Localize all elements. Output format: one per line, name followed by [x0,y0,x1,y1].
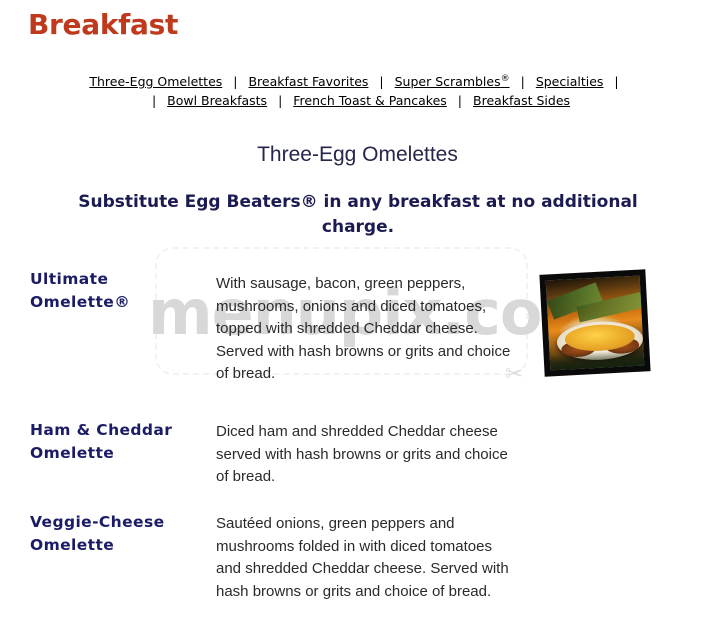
section-note: Substitute Egg Beaters® in any breakfast… [58,190,658,240]
menu-item-description: Sautéed onions, green peppers and mushro… [216,513,516,603]
menu-item-name: Ham & Cheddar Omelette [30,419,210,465]
menu-item: Veggie-Cheese Omelette Sautéed onions, g… [0,511,715,631]
nav-link-specialties[interactable]: Specialties [536,74,604,89]
nav-link-label: Breakfast Favorites [248,74,368,89]
nav-link-label: Specialties [536,74,604,89]
nav-row-1: Three-Egg Omelettes | Breakfast Favorite… [0,70,715,91]
ultimate-omelette-photo [539,269,650,376]
nav-link-breakfast-sides[interactable]: Breakfast Sides [473,93,570,108]
nav-row-2: | Bowl Breakfasts | French Toast & Panca… [0,91,715,110]
nav-link-label: Three-Egg Omelettes [89,74,222,89]
menu-item-name: Ultimate Omelette® [30,268,210,314]
nav-separator: | [226,72,244,91]
menu-item-name: Veggie-Cheese Omelette [30,511,210,557]
menu-item-description: Diced ham and shredded Cheddar cheese se… [216,421,516,489]
nav-separator: | [451,91,469,110]
nav-separator: | [145,91,163,110]
nav-link-french-toast-pancakes[interactable]: French Toast & Pancakes [293,93,447,108]
nav-separator: | [372,72,390,91]
nav-link-three-egg-omelettes[interactable]: Three-Egg Omelettes [89,74,222,89]
menu-item-description: With sausage, bacon, green peppers, mush… [216,273,516,386]
nav-link-label: French Toast & Pancakes [293,93,447,108]
category-nav: Three-Egg Omelettes | Breakfast Favorite… [0,70,715,110]
photo-shadow [550,350,645,371]
nav-separator: | [271,91,289,110]
nav-link-label: Super Scrambles [395,74,501,89]
page-title: Breakfast [28,8,178,41]
nav-link-breakfast-favorites[interactable]: Breakfast Favorites [248,74,368,89]
section-heading: Three-Egg Omelettes [0,143,715,167]
registered-trademark-icon: ® [501,74,510,84]
menu-item: Ham & Cheddar Omelette Diced ham and shr… [0,419,715,499]
nav-separator: | [514,72,532,91]
nav-link-super-scrambles[interactable]: Super Scrambles® [395,74,510,89]
nav-link-label: Bowl Breakfasts [167,93,267,108]
nav-separator: | [607,72,625,91]
nav-link-bowl-breakfasts[interactable]: Bowl Breakfasts [167,93,267,108]
nav-link-label: Breakfast Sides [473,93,570,108]
